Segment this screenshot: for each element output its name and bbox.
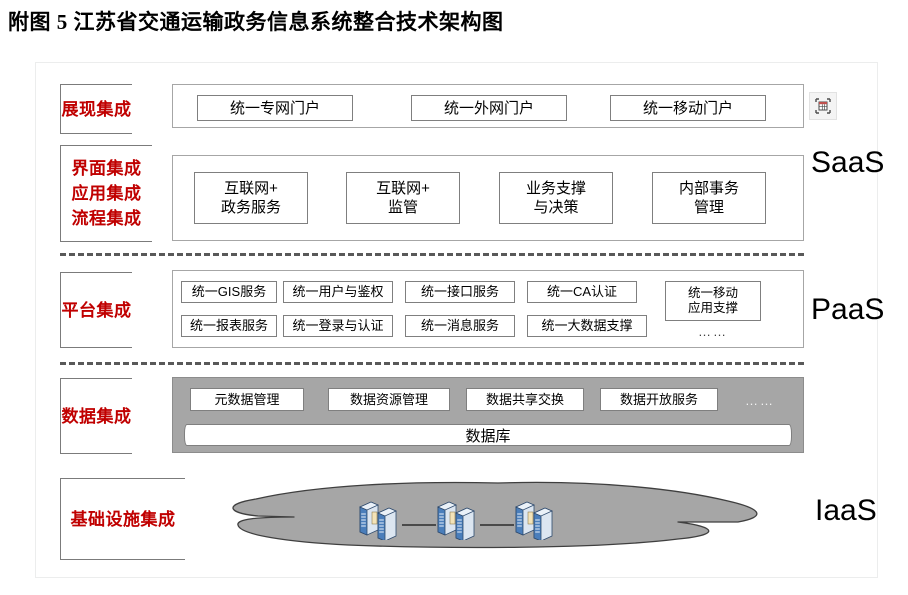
layer-label-text-platform: 平台集成 [62,298,132,323]
layer-label-text-infrastructure: 基础设施集成 [71,507,176,532]
portal-box-mobile[interactable]: 统一移动门户 [610,95,766,121]
portal-box-extranet[interactable]: 统一外网门户 [411,95,567,121]
grid-icon[interactable] [809,92,837,120]
layer-label-text-data: 数据集成 [62,404,132,429]
database-bar[interactable]: 数据库 [184,424,792,446]
service-model-label-saas: SaaS [811,146,884,180]
paas-box-bigdata-support[interactable]: 统一大数据支撑 [527,315,647,337]
server-link-line [480,524,514,526]
database-label: 数据库 [185,425,791,446]
server-rack-icon [358,500,402,536]
data-box-resource-management[interactable]: 数据资源管理 [328,388,450,411]
server-rack-icon [436,500,480,536]
separator-saas-paas [60,253,804,256]
app-box-internet-plus-gov-service[interactable]: 互联网+ 政务服务 [194,172,308,224]
page-title: 附图 5 江苏省交通运输政务信息系统整合技术架构图 [8,6,504,36]
grid-icon-glyph [815,98,831,114]
portal-box-intranet[interactable]: 统一专网门户 [197,95,353,121]
paas-box-interface-service[interactable]: 统一接口服务 [405,281,515,303]
paas-box-user-auth[interactable]: 统一用户与鉴权 [283,281,393,303]
paas-box-login-authentication[interactable]: 统一登录与认证 [283,315,393,337]
layer-label-text: 展现集成 [62,97,132,122]
paas-box-mobile-app-support[interactable]: 统一移动 应用支撑 [665,281,761,321]
paas-box-report-service[interactable]: 统一报表服务 [181,315,277,337]
paas-box-message-service[interactable]: 统一消息服务 [405,315,515,337]
paas-box-ca-certification[interactable]: 统一CA认证 [527,281,637,303]
app-box-internet-plus-supervision[interactable]: 互联网+ 监管 [346,172,460,224]
layer-label-text-interface: 界面集成 [72,156,142,181]
paas-box-gis-service[interactable]: 统一GIS服务 [181,281,277,303]
app-box-business-support-decision[interactable]: 业务支撑 与决策 [499,172,613,224]
data-ellipsis: …… [730,390,790,410]
separator-paas-data [60,362,804,365]
layer-label-data: 数据集成 [60,378,132,454]
layer-label-infrastructure: 基础设施集成 [60,478,185,560]
server-rack-icon [514,500,558,536]
data-box-open-service[interactable]: 数据开放服务 [600,388,718,411]
service-model-label-iaas: IaaS [815,494,877,528]
layer-label-text-process: 流程集成 [72,206,142,231]
paas-ellipsis: …… [665,322,761,340]
app-box-internal-affairs-management[interactable]: 内部事务 管理 [652,172,766,224]
data-box-sharing-exchange[interactable]: 数据共享交换 [466,388,584,411]
service-model-label-paas: PaaS [811,293,884,327]
layer-label-presentation: 展现集成 [60,84,132,134]
server-link-line [402,524,436,526]
server-cluster [358,498,574,538]
data-box-metadata-management[interactable]: 元数据管理 [190,388,304,411]
layer-label-application: 界面集成 应用集成 流程集成 [60,145,152,242]
layer-label-text-application: 应用集成 [72,181,142,206]
layer-label-platform: 平台集成 [60,272,132,348]
